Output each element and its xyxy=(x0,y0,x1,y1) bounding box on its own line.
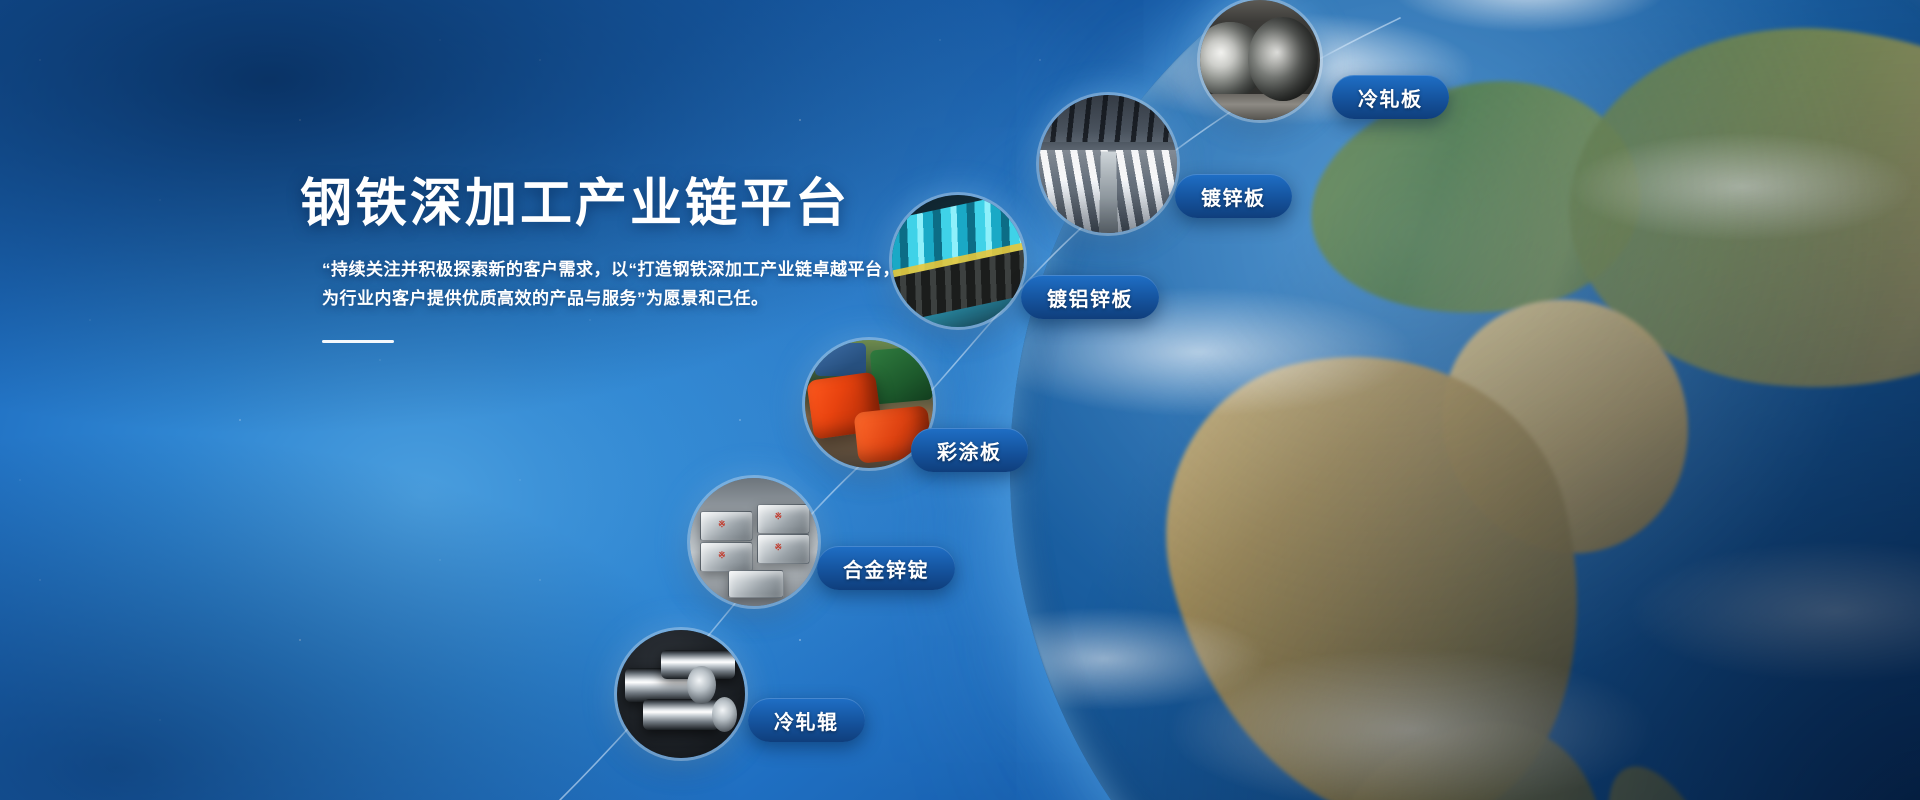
page-title: 钢铁深加工产业链平台 xyxy=(300,175,920,233)
node-label-color-coated-sheet[interactable]: 彩涂板 xyxy=(911,428,1028,472)
node-cold-rolling-roll[interactable] xyxy=(617,630,745,758)
ingot-bundle xyxy=(728,570,784,598)
ingot-bundle xyxy=(700,542,753,572)
ingot-marking: ※ xyxy=(718,550,726,561)
hero-subtitle: “持续关注并积极探索新的客户需求，以“打造钢铁深加工产业链卓越平台， 为行业内客… xyxy=(322,255,902,313)
ingot-marking: ※ xyxy=(774,542,782,553)
node-label-cold-rolled-sheet[interactable]: 冷轧板 xyxy=(1332,75,1449,119)
warehouse-aisle xyxy=(1099,151,1118,233)
ingot-bundle xyxy=(757,504,810,534)
zinc-ingot-stacks-photo: ※ ※ ※ ※ xyxy=(690,478,818,606)
blue-coil xyxy=(815,343,866,376)
ingot-marking: ※ xyxy=(774,511,782,522)
hero-subtitle-line-1: “持续关注并积极探索新的客户需求，以“打造钢铁深加工产业链卓越平台， xyxy=(322,260,900,279)
green-machinery xyxy=(869,345,932,404)
roll-body xyxy=(643,699,720,730)
node-galvanized-sheet[interactable] xyxy=(1039,95,1177,233)
hero-subtitle-line-2: 为行业内客户提供优质高效的产品与服务”为愿景和己任。 xyxy=(322,289,769,308)
node-label-galvalume-sheet[interactable]: 镀铝锌板 xyxy=(1021,275,1159,319)
node-cold-rolled-sheet[interactable] xyxy=(1200,0,1320,120)
hero-banner: 冷轧板 镀锌板 镀铝锌板 彩涂板 xyxy=(0,0,1920,800)
ingot-marking: ※ xyxy=(718,519,726,530)
ingot-bundle xyxy=(757,534,810,564)
node-label-zinc-alloy-ingot[interactable]: 合金锌锭 xyxy=(817,546,955,590)
node-label-galvanized-sheet[interactable]: 镀锌板 xyxy=(1175,174,1292,218)
title-underline-rule xyxy=(322,340,394,343)
node-label-cold-rolling-roll[interactable]: 冷轧辊 xyxy=(748,698,865,742)
ingot-bundle xyxy=(700,511,753,541)
rolling-rolls-photo xyxy=(617,630,745,758)
steel-coils-photo xyxy=(1200,0,1320,120)
hero-copy-block: 钢铁深加工产业链平台 “持续关注并积极探索新的客户需求，以“打造钢铁深加工产业链… xyxy=(300,175,920,343)
coil-warehouse-photo xyxy=(1039,95,1177,233)
roll-end-face xyxy=(712,697,738,733)
roll-end-face xyxy=(687,666,715,704)
factory-floor xyxy=(1200,94,1320,120)
warehouse-roof-beams xyxy=(1039,95,1177,142)
node-zinc-alloy-ingot[interactable]: ※ ※ ※ ※ xyxy=(690,478,818,606)
